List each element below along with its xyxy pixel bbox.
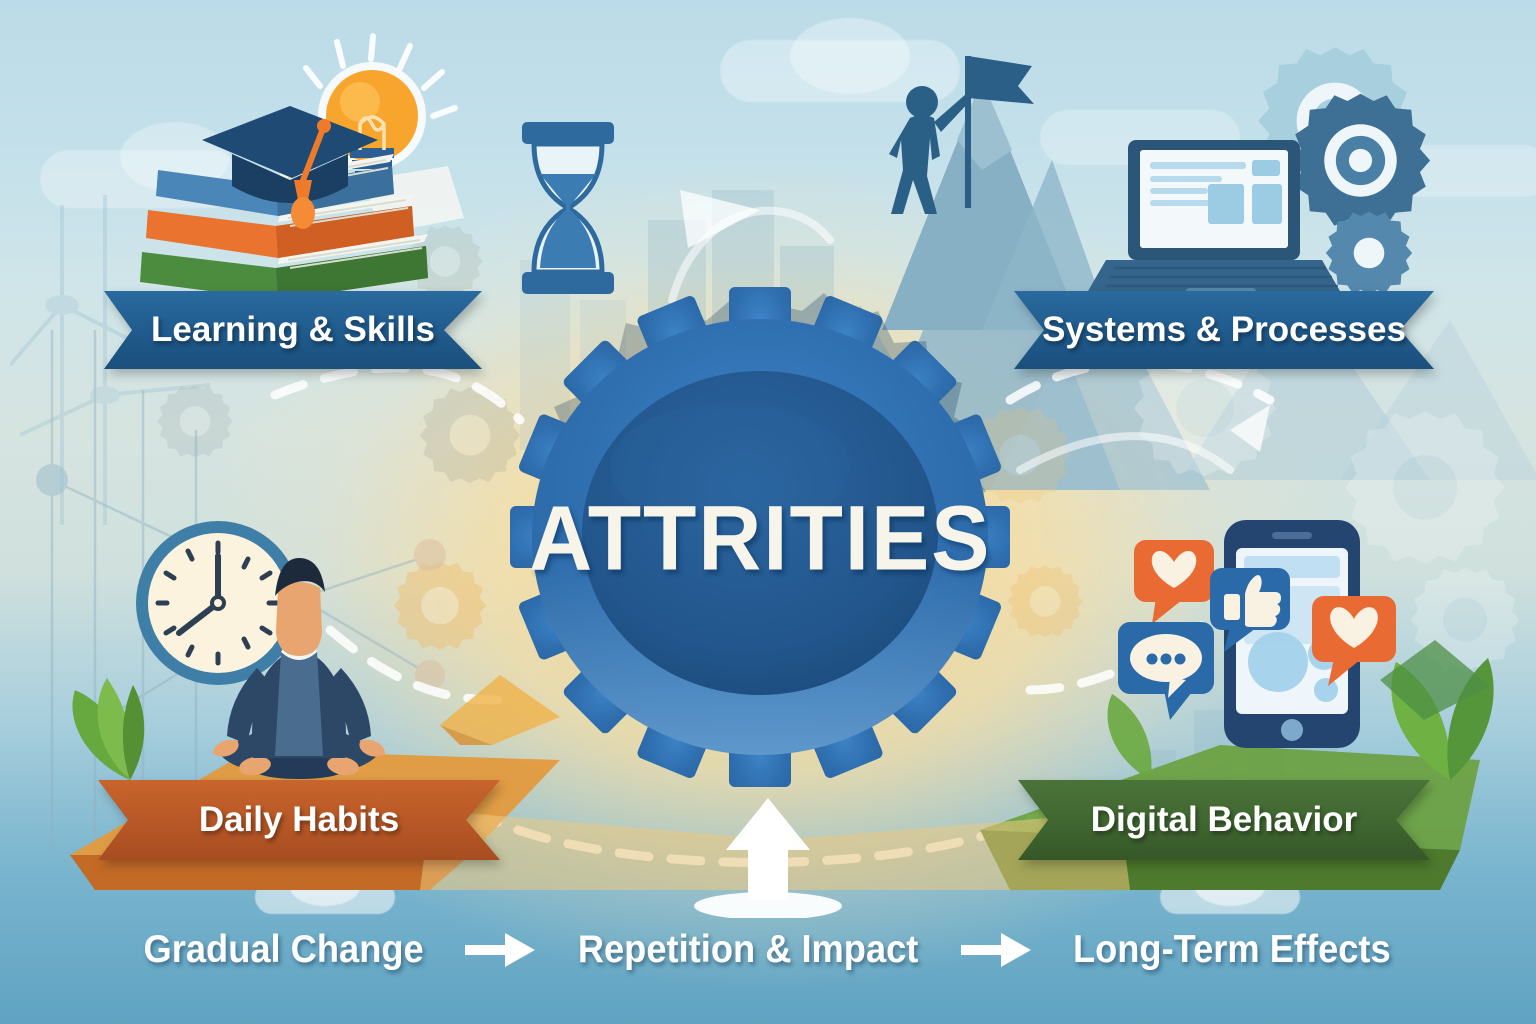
cloud-icon <box>1195 868 1265 906</box>
ribbon-daily-habits[interactable]: Daily Habits <box>98 780 500 860</box>
flow-step-repetition-impact[interactable]: Repetition & Impact <box>565 928 931 972</box>
wall-clock-icon <box>136 521 300 685</box>
arrow-right-icon <box>465 933 535 967</box>
cloud-icon <box>1160 880 1300 914</box>
ribbon-label: Systems & Processes <box>1042 310 1406 350</box>
ribbon-digital-behavior[interactable]: Digital Behavior <box>1018 780 1430 860</box>
flow-step-long-term-effects[interactable]: Long-Term Effects <box>1061 928 1403 972</box>
arrow-right-icon <box>961 933 1031 967</box>
laptop-gears-icon <box>1080 36 1470 316</box>
process-flow: Gradual Change Repetition & Impact Long-… <box>0 928 1536 972</box>
heart-bubble-orange-icon <box>1134 540 1214 624</box>
chat-bubble-blue-icon <box>1118 622 1214 720</box>
ribbon-label: Digital Behavior <box>1091 800 1357 840</box>
smartphone-social-reactions-icon <box>1112 512 1452 804</box>
cloud-icon <box>290 868 360 906</box>
cloud-icon <box>255 880 395 914</box>
meditating-person-clock-icon <box>95 500 505 800</box>
flow-step-gradual-change[interactable]: Gradual Change <box>133 928 434 972</box>
ribbon-label: Learning & Skills <box>151 310 435 350</box>
hourglass-icon <box>508 118 628 298</box>
arrow-up-icon <box>694 788 842 918</box>
ribbon-systems-processes[interactable]: Systems & Processes <box>1014 291 1434 369</box>
ribbon-label: Daily Habits <box>199 800 399 840</box>
central-gear: ATTRITIES <box>498 285 1022 797</box>
central-gear-label: ATTRITIES <box>498 486 1022 591</box>
ribbon-learning-skills[interactable]: Learning & Skills <box>104 291 482 369</box>
infographic-canvas: ATTRITIES Learning & Skills Systems & Pr… <box>0 0 1536 1024</box>
graduation-cap-books-lightbulb-icon <box>128 28 468 316</box>
ghost-gear-icon <box>150 380 240 470</box>
